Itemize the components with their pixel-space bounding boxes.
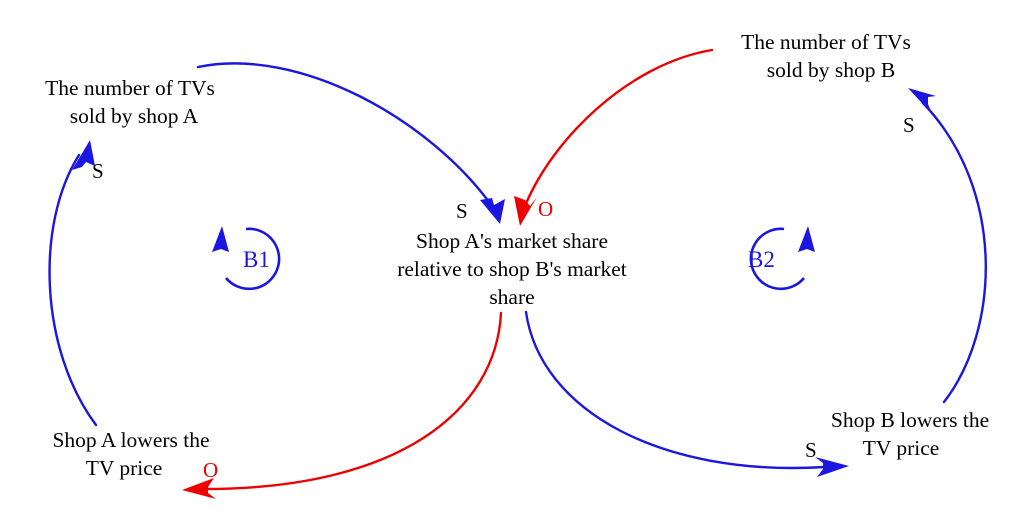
link-b-price-to-b-sales[interactable] [908, 88, 986, 402]
link-a-sales-to-share-arrowhead [480, 198, 505, 224]
node-price-shop-b-line-2: TV price [863, 436, 940, 460]
polarity-label-a-sales-to-share: S [456, 199, 468, 223]
loop-b1-label: B1 [243, 247, 270, 272]
link-share-to-b-price-path [526, 312, 825, 468]
link-a-sales-to-share-path [198, 63, 492, 206]
node-tvs-shop-a[interactable]: The number of TVs sold by shop A [45, 76, 215, 128]
loop-b2[interactable]: B2 [748, 226, 815, 289]
polarity-label-b-sales-to-share: O [538, 197, 553, 221]
node-tvs-shop-b-line-1: The number of TVs [741, 30, 911, 54]
node-price-shop-a[interactable]: Shop A lowers the TV price [52, 428, 209, 480]
node-tvs-shop-a-line-2: sold by shop A [70, 104, 199, 128]
node-price-shop-a-line-1: Shop A lowers the [52, 428, 209, 452]
polarity-label-share-to-b-price: S [805, 438, 817, 462]
causal-loop-diagram-canvas: B1 B2 The number of TVs sold by shop A S… [0, 0, 1024, 516]
polarity-label-b-price-to-b-sales: S [903, 113, 915, 137]
node-price-shop-a-line-2: TV price [86, 456, 163, 480]
link-a-price-to-a-sales-path [50, 155, 96, 425]
node-tvs-shop-b[interactable]: The number of TVs sold by shop B [741, 30, 911, 82]
polarity-label-share-to-a-price: O [203, 458, 218, 482]
node-market-share-line-2: relative to shop B's market [397, 257, 627, 281]
node-market-share[interactable]: Shop A's market share relative to shop B… [397, 229, 627, 309]
link-b-sales-to-share-arrowhead [514, 196, 537, 226]
polarity-label-a-price-to-a-sales: S [92, 159, 104, 183]
loop-b2-label: B2 [748, 247, 775, 272]
link-b-sales-to-share-path [525, 50, 712, 206]
node-price-shop-b[interactable]: Shop B lowers the TV price [831, 408, 989, 460]
loop-b1-arrowhead [212, 226, 229, 252]
node-market-share-line-3: share [489, 285, 534, 309]
loop-b2-arrowhead [798, 226, 815, 252]
node-price-shop-b-line-1: Shop B lowers the [831, 408, 989, 432]
node-tvs-shop-b-line-2: sold by shop B [767, 58, 895, 82]
link-a-price-to-a-sales[interactable] [50, 140, 96, 425]
link-share-to-a-price[interactable] [182, 313, 501, 499]
link-b-price-to-b-sales-path [923, 103, 986, 402]
link-share-to-b-price[interactable] [526, 312, 849, 477]
diagram-svg: B1 B2 The number of TVs sold by shop A S… [0, 0, 1024, 516]
loop-b1[interactable]: B1 [212, 226, 279, 289]
link-b-price-to-b-sales-arrowhead [908, 88, 936, 114]
link-share-to-a-price-path [205, 313, 501, 489]
node-tvs-shop-a-line-1: The number of TVs [45, 76, 215, 100]
node-market-share-line-1: Shop A's market share [416, 229, 608, 253]
